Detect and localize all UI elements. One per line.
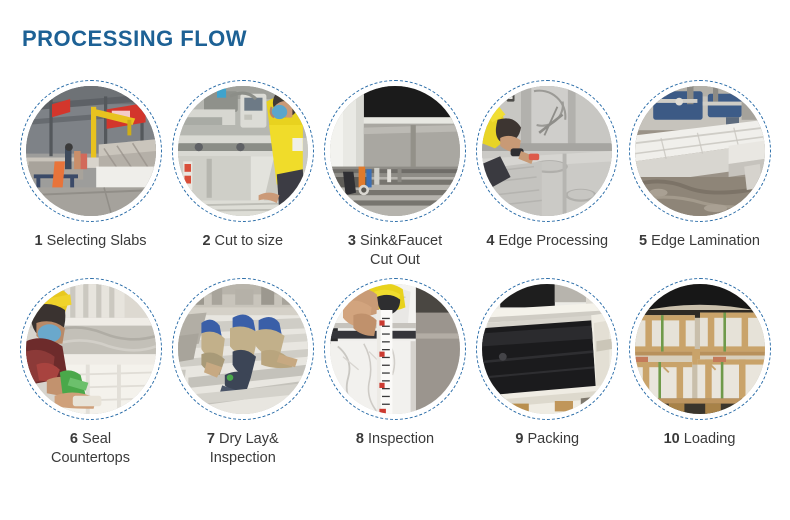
flow-step-4[interactable]: 4 Edge Processing: [475, 80, 620, 269]
flow-row-2: 6 Seal Countertops: [0, 278, 790, 467]
flow-step-3-number: 3: [348, 233, 356, 249]
photo-packing: [482, 284, 612, 414]
flow-step-6[interactable]: 6 Seal Countertops: [18, 278, 163, 467]
dashed-ring-2: [172, 80, 314, 222]
flow-step-1-number: 1: [34, 233, 42, 249]
photo-seal-countertops: [26, 284, 156, 414]
photo-selecting-slabs: [26, 86, 156, 216]
flow-step-2-label: 2 Cut to size: [202, 232, 283, 251]
flow-step-10-label: 10 Loading: [664, 430, 736, 449]
dashed-ring-7: [172, 278, 314, 420]
dashed-ring-3: [324, 80, 466, 222]
dashed-ring-10: [629, 278, 771, 420]
flow-step-3-label: 3 Sink&Faucet Cut Out: [348, 232, 442, 269]
flow-step-4-number: 4: [486, 233, 494, 249]
flow-step-8-number: 8: [356, 431, 364, 447]
flow-step-4-text: Edge Processing: [498, 233, 608, 249]
dashed-ring-5: [629, 80, 771, 222]
flow-step-9-number: 9: [515, 431, 523, 447]
flow-step-5-label: 5 Edge Lamination: [639, 232, 760, 251]
dashed-ring-1: [20, 80, 162, 222]
photo-dry-lay-inspection: [178, 284, 308, 414]
flow-row-1: 1 Selecting Slabs: [0, 80, 790, 269]
photo-sink-faucet-cut-out: [330, 86, 460, 216]
flow-step-10-number: 10: [664, 431, 680, 447]
dashed-ring-9: [476, 278, 618, 420]
dashed-ring-6: [20, 278, 162, 420]
processing-flow-grid: 1 Selecting Slabs: [0, 80, 790, 467]
flow-step-8-text: Inspection: [368, 431, 434, 447]
page-title: PROCESSING FLOW: [22, 26, 247, 52]
flow-step-3-text: Sink&Faucet Cut Out: [360, 233, 442, 268]
flow-step-1-text: Selecting Slabs: [47, 233, 147, 249]
flow-step-10-text: Loading: [684, 431, 736, 447]
photo-loading: [635, 284, 765, 414]
flow-step-1[interactable]: 1 Selecting Slabs: [18, 80, 163, 269]
flow-step-7[interactable]: 7 Dry Lay& Inspection: [170, 278, 315, 467]
flow-step-6-text: Seal Countertops: [51, 431, 130, 466]
photo-inspection: [330, 284, 460, 414]
flow-step-9[interactable]: 9 Packing: [475, 278, 620, 467]
flow-step-8-label: 8 Inspection: [356, 430, 434, 449]
flow-step-2[interactable]: 2 Cut to size: [170, 80, 315, 269]
flow-step-3[interactable]: 3 Sink&Faucet Cut Out: [323, 80, 468, 269]
flow-step-2-number: 2: [202, 233, 210, 249]
flow-step-5-text: Edge Lamination: [651, 233, 760, 249]
flow-step-7-text: Dry Lay& Inspection: [210, 431, 279, 466]
flow-step-7-number: 7: [207, 431, 215, 447]
flow-step-5[interactable]: 5 Edge Lamination: [627, 80, 772, 269]
flow-step-8[interactable]: 8 Inspection: [323, 278, 468, 467]
flow-step-5-number: 5: [639, 233, 647, 249]
photo-edge-processing: [482, 86, 612, 216]
flow-step-6-label: 6 Seal Countertops: [51, 430, 130, 467]
photo-edge-lamination: [635, 86, 765, 216]
dashed-ring-8: [324, 278, 466, 420]
dashed-ring-4: [476, 80, 618, 222]
flow-step-9-text: Packing: [528, 431, 580, 447]
flow-step-1-label: 1 Selecting Slabs: [34, 232, 146, 251]
flow-step-9-label: 9 Packing: [515, 430, 579, 449]
flow-step-6-number: 6: [70, 431, 78, 447]
flow-step-2-text: Cut to size: [215, 233, 284, 249]
flow-step-10[interactable]: 10 Loading: [627, 278, 772, 467]
photo-cut-to-size: [178, 86, 308, 216]
flow-step-4-label: 4 Edge Processing: [486, 232, 608, 251]
flow-step-7-label: 7 Dry Lay& Inspection: [207, 430, 279, 467]
